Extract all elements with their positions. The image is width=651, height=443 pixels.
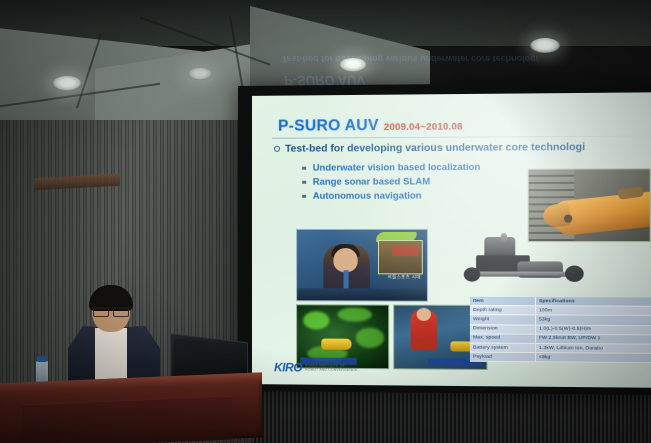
news-inset-highlight xyxy=(392,246,419,256)
slide-title: P-SURO AUV2009.04~2010.08 xyxy=(278,116,463,135)
wooden-lectern xyxy=(0,372,262,443)
kiro-subtitle: KOREA INSTITUTE OF ROBOT AND CONVERGENCE xyxy=(305,363,357,372)
square-bullet-icon xyxy=(302,166,306,170)
slide-title-rule xyxy=(272,135,651,138)
ceiling-downlight-4 xyxy=(530,38,560,53)
hollow-bullet-icon xyxy=(274,146,280,152)
kiro-logo: KIRO KOREA INSTITUTE OF ROBOT AND CONVER… xyxy=(274,360,357,375)
slide-bullet-1: Underwater vision based localization xyxy=(302,161,480,173)
slide-bullet-1-text: Underwater vision based localization xyxy=(313,161,481,173)
projection-screen: P-SURO AUV2009.04~2010.08 Test-bed for d… xyxy=(238,82,651,395)
water-bottle-cap xyxy=(37,356,47,362)
presenter-eyeglasses xyxy=(92,307,130,314)
kiro-subtitle-line2: ROBOT AND CONVERGENCE xyxy=(305,368,357,372)
internal-mast xyxy=(501,233,507,245)
sonar-blob xyxy=(356,328,384,348)
presentation-room-scene: P-SURO AUV Test-bed for developing vario… xyxy=(0,0,651,443)
auv-internal-assembly-render xyxy=(462,231,592,294)
spec-header-item: Item xyxy=(470,297,535,306)
ceiling-downlight-2 xyxy=(188,68,212,80)
sonar-auv-target xyxy=(321,339,351,350)
spec-label: Payload xyxy=(470,352,535,362)
spec-label: Battery system xyxy=(470,343,535,353)
spec-label: Max. speed xyxy=(470,334,535,344)
news-caption-text: 서울스포츠 시대 xyxy=(388,274,421,280)
news-anchor-face xyxy=(333,248,357,272)
news-broadcast-image: 서울스포츠 시대 xyxy=(296,229,428,302)
spec-label: Weight xyxy=(470,315,535,325)
internal-thruster-right xyxy=(565,266,584,282)
lower-right-wall-panels xyxy=(252,388,651,443)
square-bullet-icon xyxy=(302,181,306,185)
square-bullet-icon xyxy=(302,195,306,199)
kiro-wordmark: KIRO xyxy=(274,360,302,374)
spec-label: Depth rating xyxy=(470,306,535,316)
lectern-front-face xyxy=(22,396,232,443)
slide-title-date: 2009.04~2010.08 xyxy=(384,121,463,133)
slide-bullet-2: Range sonar based SLAM xyxy=(302,175,430,187)
news-desk xyxy=(297,288,427,301)
sonar-blob xyxy=(337,307,371,321)
slide-bullet-3-text: Autonomous navigation xyxy=(313,189,422,200)
presentation-slide: P-SURO AUV2009.04~2010.08 Test-bed for d… xyxy=(252,92,651,388)
auv-camera-port xyxy=(564,215,572,223)
slide-bullet-2-text: Range sonar based SLAM xyxy=(313,175,430,187)
pool-operator-head xyxy=(417,308,431,321)
slide-heading-text: Test-bed for developing various underwat… xyxy=(285,142,585,155)
sonar-blob xyxy=(303,311,329,329)
slide-title-text: P-SURO AUV xyxy=(278,117,379,135)
table-row: Payload <8kg xyxy=(470,352,651,363)
slide-heading: Test-bed for developing various underwat… xyxy=(274,142,585,155)
spec-table-body: Item Specifications Depth rating 100m We… xyxy=(470,297,651,363)
ceiling-downlight-3 xyxy=(339,58,367,72)
spec-value: 100m xyxy=(535,306,651,316)
specifications-table: Item Specifications Depth rating 100m We… xyxy=(470,297,651,364)
internal-thruster-left xyxy=(464,267,480,281)
slide-bullet-3: Autonomous navigation xyxy=(302,189,421,200)
spec-value: <8kg xyxy=(535,353,651,363)
ceiling-downlight-1 xyxy=(52,76,82,91)
sonar-underwater-image xyxy=(296,304,389,369)
spec-label: Dimension xyxy=(470,324,535,334)
